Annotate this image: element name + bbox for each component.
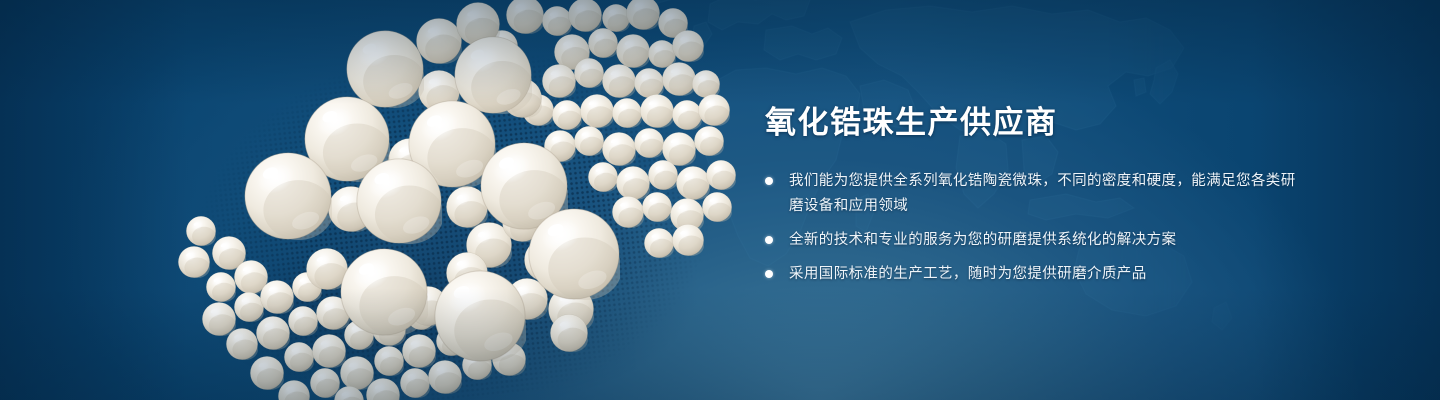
bullet-dot-icon: [765, 236, 773, 244]
list-item: 采用国际标准的生产工艺，随时为您提供研磨介质产品: [765, 262, 1305, 287]
feature-bullet-list: 我们能为您提供全系列氧化锆陶瓷微珠，不同的密度和硬度，能满足您各类研磨设备和应用…: [765, 169, 1305, 287]
hero-banner: 氧化锆珠生产供应商 我们能为您提供全系列氧化锆陶瓷微珠，不同的密度和硬度，能满足…: [0, 0, 1440, 400]
page-title: 氧化锆珠生产供应商: [765, 104, 1305, 143]
list-item-label: 我们能为您提供全系列氧化锆陶瓷微珠，不同的密度和硬度，能满足您各类研磨设备和应用…: [789, 169, 1305, 219]
banner-copy: 氧化锆珠生产供应商 我们能为您提供全系列氧化锆陶瓷微珠，不同的密度和硬度，能满足…: [765, 104, 1305, 287]
list-item-label: 采用国际标准的生产工艺，随时为您提供研磨介质产品: [789, 262, 1305, 287]
bullet-dot-icon: [765, 177, 773, 185]
list-item-label: 全新的技术和专业的服务为您的研磨提供系统化的解决方案: [789, 228, 1305, 253]
list-item: 我们能为您提供全系列氧化锆陶瓷微珠，不同的密度和硬度，能满足您各类研磨设备和应用…: [765, 169, 1305, 219]
list-item: 全新的技术和专业的服务为您的研磨提供系统化的解决方案: [765, 228, 1305, 253]
bullet-dot-icon: [765, 270, 773, 278]
